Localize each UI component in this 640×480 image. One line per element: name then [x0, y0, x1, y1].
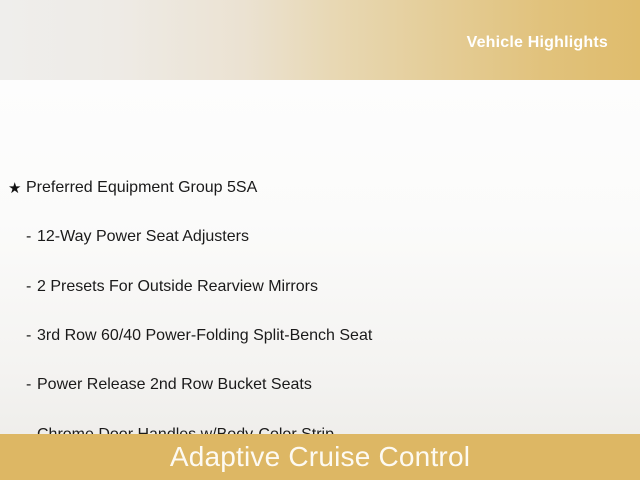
highlight-item-label: Power Release 2nd Row Bucket Seats: [37, 375, 312, 395]
highlight-group-item: ★Preferred Equipment Group 5SA: [0, 177, 640, 199]
highlight-sub-item: -Power Release 2nd Row Bucket Seats: [0, 374, 640, 396]
highlight-item-label: 12-Way Power Seat Adjusters: [37, 227, 249, 247]
slide-header: Vehicle Highlights: [0, 0, 640, 80]
highlight-item-label: 2 Presets For Outside Rearview Mirrors: [37, 277, 318, 297]
highlight-sub-item: -2 Presets For Outside Rearview Mirrors: [0, 276, 640, 298]
vehicle-highlights-slide: Vehicle Highlights ★Preferred Equipment …: [0, 0, 640, 480]
feature-caption: Adaptive Cruise Control: [170, 443, 470, 471]
dash-bullet-icon: -: [26, 229, 37, 245]
highlight-sub-item: -3rd Row 60/40 Power-Folding Split-Bench…: [0, 325, 640, 347]
highlight-sub-item: -12-Way Power Seat Adjusters: [0, 226, 640, 248]
highlight-item-label: 3rd Row 60/40 Power-Folding Split-Bench …: [37, 326, 372, 346]
page-title: Vehicle Highlights: [467, 34, 640, 52]
dash-bullet-icon: -: [26, 377, 37, 393]
dash-bullet-icon: -: [26, 328, 37, 344]
highlight-item-label: Preferred Equipment Group 5SA: [26, 178, 257, 198]
slide-footer: Adaptive Cruise Control: [0, 434, 640, 480]
star-icon: ★: [8, 181, 26, 196]
highlights-content-area: ★Preferred Equipment Group 5SA-12-Way Po…: [0, 80, 640, 434]
dash-bullet-icon: -: [26, 279, 37, 295]
